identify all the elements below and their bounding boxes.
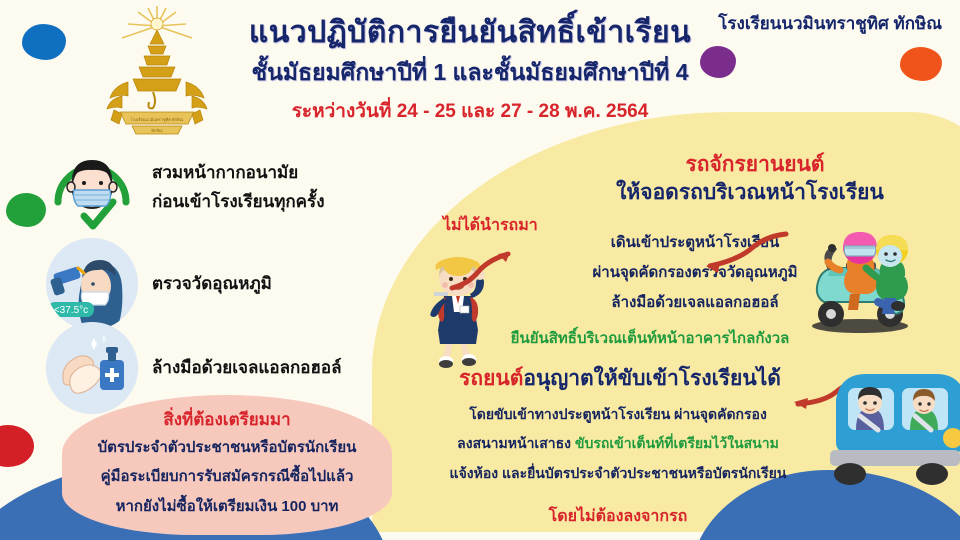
decorative-blob-red: [0, 425, 34, 467]
car-line-1: โดยขับเข้าทางประตูหน้าโรงเรียน ผ่านจุดคั…: [398, 400, 838, 429]
prepare-items-box: สิ่งที่ต้องเตรียมมา บัตรประจำตัวประชาชนห…: [62, 395, 392, 535]
header-title-block: แนวปฏิบัติการยืนยันสิทธิ์เข้าเรียน ชั้นม…: [150, 16, 790, 126]
arrow-pointing-left-icon: [700, 230, 790, 280]
decorative-blob-blue: [22, 24, 66, 60]
family-car-illustration: [820, 358, 960, 488]
measure-label-line1: สวมหน้ากากอนามัย: [152, 159, 325, 188]
thermometer-icon: <37.5°c: [46, 238, 138, 330]
car-title-red: รถยนต์: [459, 367, 523, 390]
measure-label-temperature: ตรวจวัดอุณหภูมิ: [152, 270, 272, 299]
hand-sanitizer-icon: [46, 322, 138, 414]
prepare-box-title: สิ่งที่ต้องเตรียมมา: [62, 406, 392, 433]
decorative-blob-orange: [900, 47, 942, 81]
school-name: โรงเรียนนวมินทราชูทิศ ทักษิณ: [718, 10, 942, 37]
scooter-riders-illustration: [790, 218, 930, 338]
prepare-line-2: คู่มือระเบียบการรับสมัครกรณีซื้อไปแล้ว: [62, 462, 392, 491]
arrow-pointing-right-icon: [448, 246, 518, 292]
car-title-blue: อนุญาตให้ขับเข้าโรงเรียนได้: [523, 367, 781, 390]
car-line-3: แจ้งห้อง และยื่นบัตรประจำตัวประชาชนหรือบ…: [398, 459, 838, 488]
car-line-2: ลงสนามหน้าเสาธง ขับรถเข้าเต็นท์ที่เตรียม…: [398, 429, 838, 458]
poster-canvas: โรงเรียนนวมินทราชูทิศ ทักษิณ ทักษิณ แนวป…: [0, 0, 960, 540]
car-footer-note: โดยไม่ต้องลงจากรถ: [398, 504, 838, 529]
face-mask-icon: [46, 142, 138, 234]
measure-label-sanitizer: ล้างมือด้วยเจลแอลกอฮอล์: [152, 354, 342, 383]
prepare-line-3: หากยังไม่ซื้อให้เตรียมเงิน 100 บาท: [62, 492, 392, 521]
event-dates: ระหว่างวันที่ 24 - 25 และ 27 - 28 พ.ค. 2…: [150, 96, 790, 126]
measure-label-line1: ตรวจวัดอุณหภูมิ: [152, 270, 272, 299]
motorcycle-section-title-blue: ให้จอดรถบริเวณหน้าโรงเรียน: [545, 176, 955, 209]
page-title: แนวปฏิบัติการยืนยันสิทธิ์เข้าเรียน: [150, 16, 790, 51]
measure-label-line1: ล้างมือด้วยเจลแอลกอฮอล์: [152, 354, 342, 383]
measure-label-mask: สวมหน้ากากอนามัย ก่อนเข้าโรงเรียนทุกครั้…: [152, 159, 325, 217]
prepare-line-1: บัตรประจำตัวประชาชนหรือบัตรนักเรียน: [62, 433, 392, 462]
measure-item-temperature: <37.5°c ตรวจวัดอุณหภูมิ: [46, 238, 272, 330]
temperature-badge-text: <37.5°c: [54, 305, 88, 316]
decorative-blob-green: [6, 193, 46, 227]
car-section-title: รถยนต์อนุญาตให้ขับเข้าโรงเรียนได้: [405, 362, 835, 395]
measure-label-line2: ก่อนเข้าโรงเรียนทุกครั้ง: [152, 188, 325, 217]
measure-item-mask: สวมหน้ากากอนามัย ก่อนเข้าโรงเรียนทุกครั้…: [46, 142, 325, 234]
car-instructions: โดยขับเข้าทางประตูหน้าโรงเรียน ผ่านจุดคั…: [398, 400, 838, 488]
svg-text:ทักษิณ: ทักษิณ: [151, 128, 163, 133]
car-line-2b: ขับรถเข้าเต็นท์ที่เตรียมไว้ในสนาม: [575, 435, 779, 451]
car-line-2a: ลงสนามหน้าเสาธง: [457, 435, 571, 451]
page-subtitle: ชั้นมัธยมศึกษาปีที่ 1 และชั้นมัธยมศึกษาป…: [150, 59, 790, 87]
no-vehicle-label: ไม่ได้นำรถมา: [443, 213, 538, 238]
